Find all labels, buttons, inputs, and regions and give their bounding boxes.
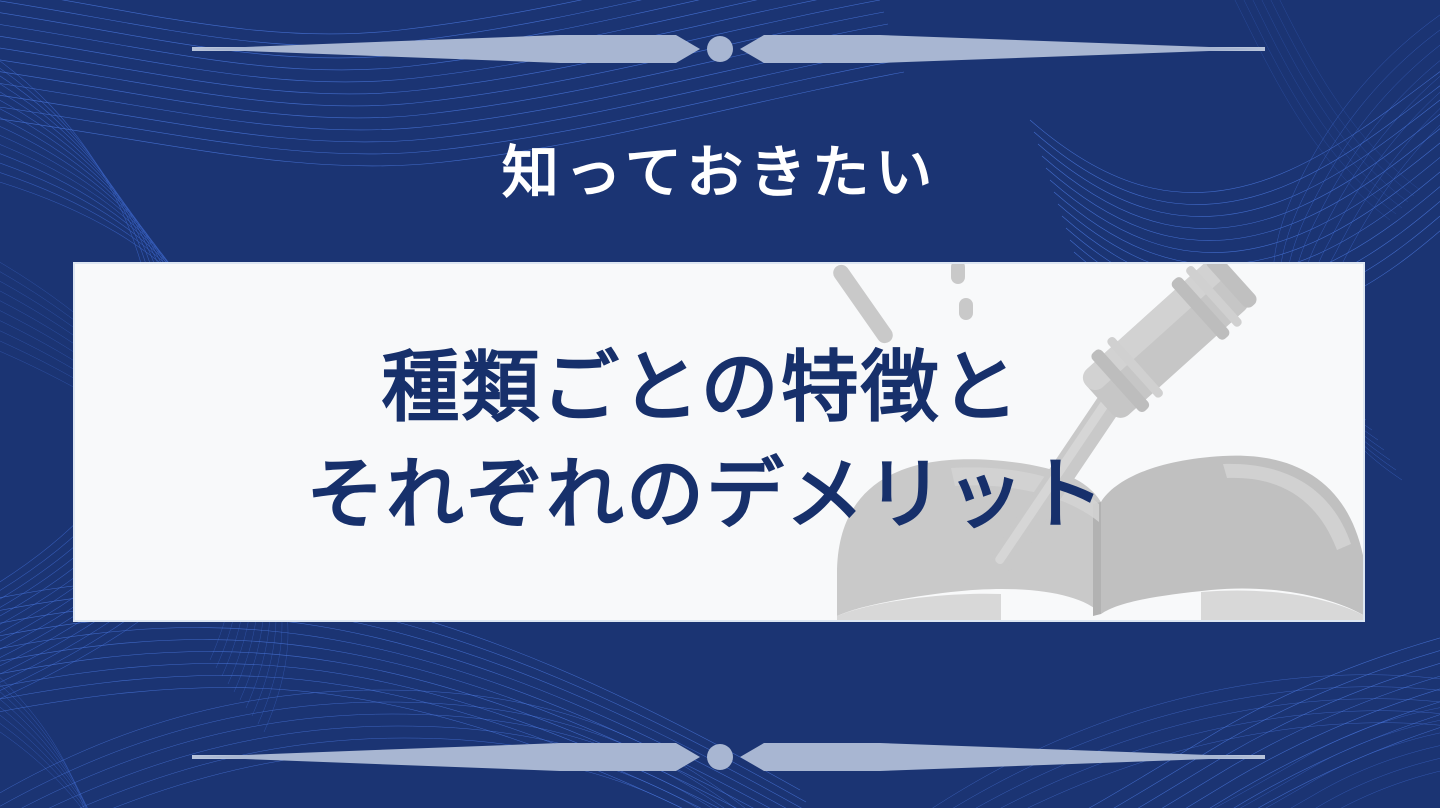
title-card: 種類ごとの特徴と それぞれのデメリット [73,262,1365,622]
decorative-divider-bottom [0,722,1440,792]
title-line-1: 種類ごとの特徴と [381,338,1020,439]
title-line-2: それぞれのデメリット [306,445,1106,546]
subtitle-text: 知っておきたい [0,142,1440,205]
title-text-block: 種類ごとの特徴と それぞれのデメリット [75,264,1363,620]
slide-canvas: 知っておきたい [0,0,1440,808]
decorative-divider-top [0,14,1440,84]
